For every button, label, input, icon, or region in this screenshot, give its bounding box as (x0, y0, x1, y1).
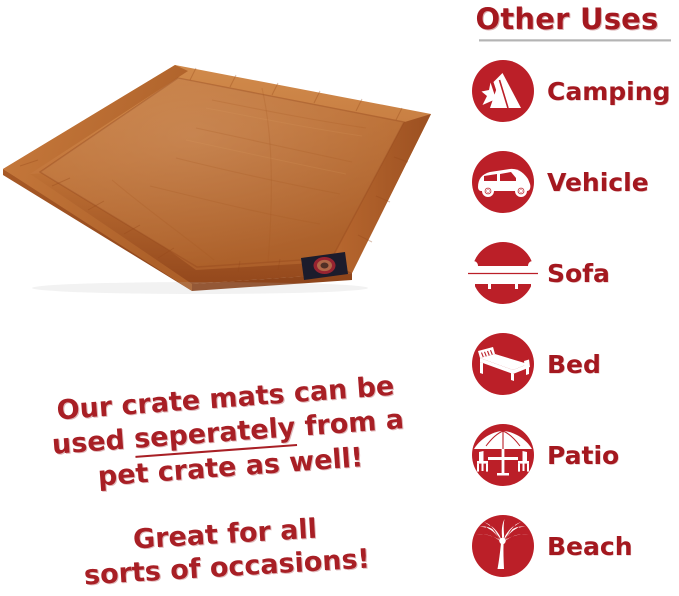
patio-umbrella-icon (472, 424, 534, 486)
car-icon (472, 151, 534, 213)
use-label-patio: Patio (547, 441, 619, 470)
use-item-sofa: Sofa (472, 242, 679, 304)
use-item-vehicle: Vehicle (472, 151, 679, 213)
use-item-bed: Bed (472, 333, 679, 395)
tent-icon (472, 60, 534, 122)
title-divider (479, 39, 671, 42)
use-label-vehicle: Vehicle (547, 168, 649, 197)
use-item-camping: Camping (472, 60, 679, 122)
other-uses-panel: Other Uses Camping (455, 0, 679, 593)
headline-separately: Our crate mats can be used seperately fr… (15, 367, 441, 500)
headline-line-2-post: from a (294, 404, 405, 443)
use-item-beach: Beach (472, 515, 679, 577)
use-item-patio: Patio (472, 424, 679, 486)
use-label-camping: Camping (547, 77, 670, 106)
page-title: Other Uses (455, 2, 679, 36)
headline-occasions: Great for all sorts of occasions! (44, 508, 407, 595)
headline-line-2-pre: used (51, 424, 135, 461)
palm-tree-icon (472, 515, 534, 577)
product-image (0, 62, 440, 297)
drop-shadow (32, 282, 368, 294)
bed-icon (472, 333, 534, 395)
sofa-icon (472, 242, 534, 304)
crate-mat-illustration (0, 62, 440, 297)
use-label-bed: Bed (547, 350, 601, 379)
use-label-beach: Beach (547, 532, 633, 561)
use-label-sofa: Sofa (547, 259, 610, 288)
